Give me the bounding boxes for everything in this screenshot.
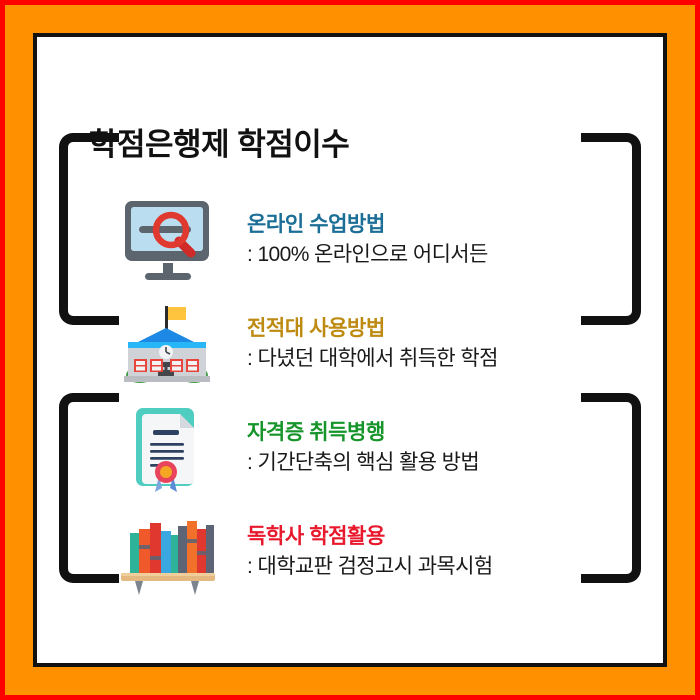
feature-list: 온라인 수업방법 : 100% 온라인으로 어디서든	[99, 189, 633, 605]
page-title: 학점은행제 학점이수	[89, 119, 349, 164]
list-item-heading: 자격증 취득병행	[247, 420, 479, 446]
list-item-description: : 대학교판 검정고시 과목시험	[247, 553, 493, 581]
list-item-description: : 기간단축의 핵심 활용 방법	[247, 449, 479, 477]
list-item-description: : 100% 온라인으로 어디서든	[247, 241, 488, 269]
list-item: 자격증 취득병행 : 기간단축의 핵심 활용 방법	[99, 397, 633, 501]
list-item-text: 자격증 취득병행 : 기간단축의 핵심 활용 방법	[235, 420, 479, 478]
certificate-icon	[99, 403, 235, 495]
list-item-text: 온라인 수업방법 : 100% 온라인으로 어디서든	[235, 212, 488, 270]
list-item: 독학사 학점활용 : 대학교판 검정고시 과목시험	[99, 501, 633, 605]
monitor-search-icon	[99, 195, 235, 287]
bookshelf-icon	[99, 507, 235, 599]
list-item-text: 전적대 사용방법 : 다녔던 대학에서 취득한 학점	[235, 316, 498, 374]
poster-root: 학점은행제 학점이수 온라인 수	[0, 0, 700, 700]
list-item: 전적대 사용방법 : 다녔던 대학에서 취득한 학점	[99, 293, 633, 397]
school-building-icon	[99, 299, 235, 391]
list-item: 온라인 수업방법 : 100% 온라인으로 어디서든	[99, 189, 633, 293]
list-item-heading: 전적대 사용방법	[247, 316, 498, 342]
poster-canvas: 학점은행제 학점이수 온라인 수	[37, 37, 663, 663]
list-item-heading: 독학사 학점활용	[247, 524, 493, 550]
list-item-heading: 온라인 수업방법	[247, 212, 488, 238]
list-item-text: 독학사 학점활용 : 대학교판 검정고시 과목시험	[235, 524, 493, 582]
list-item-description: : 다녔던 대학에서 취득한 학점	[247, 345, 498, 373]
